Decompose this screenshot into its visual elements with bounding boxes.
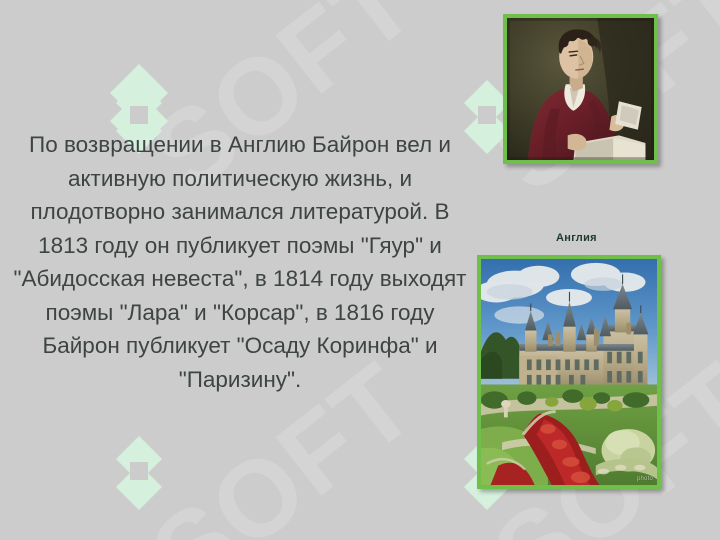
slide-body-text: По возвращении в Англию Байрон вел и акт… [4, 128, 476, 396]
english-manor-image: photo [477, 255, 661, 489]
image-caption-england: Англия [556, 232, 597, 244]
lord-byron-portrait-image [503, 14, 658, 164]
photo-credit-watermark: photo [637, 476, 653, 482]
slide-canvas: SOFT SOFT SOFT SOFT [0, 0, 720, 540]
soft-logo-icon [96, 418, 182, 528]
